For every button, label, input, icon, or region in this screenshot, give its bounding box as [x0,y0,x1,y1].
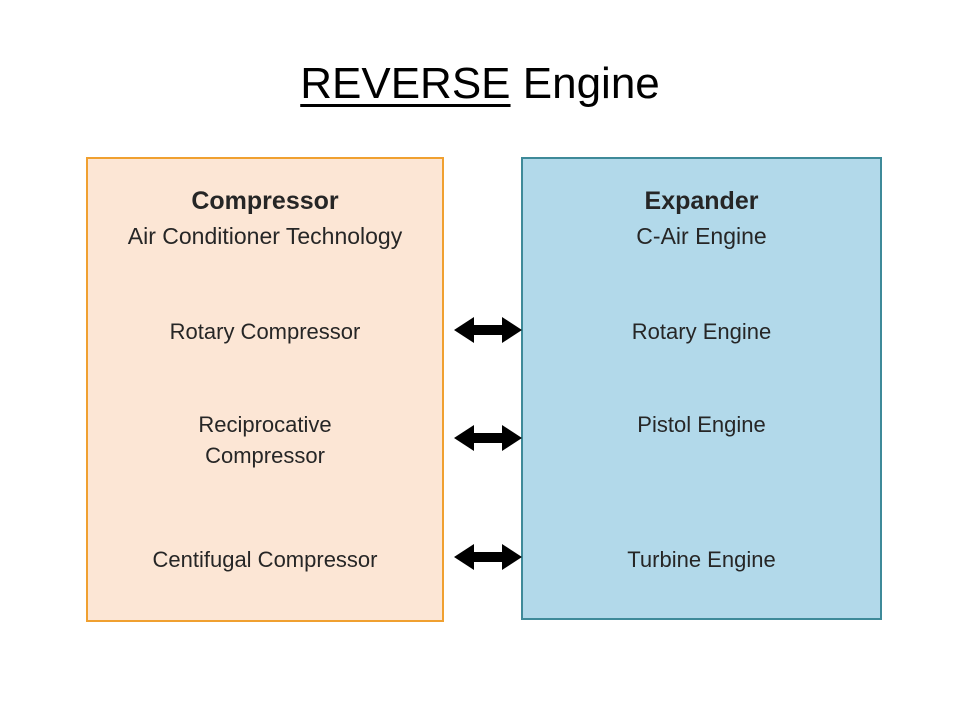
compressor-item-centifugal: Centifugal Compressor [88,544,442,575]
expander-item-pistol: Pistol Engine [523,409,880,440]
connector-reciprocative [452,421,524,455]
double-arrow-icon [452,421,524,455]
reverse-engine-diagram: REVERSE Engine Compressor Air Conditione… [0,0,960,720]
expander-panel: Expander C-Air Engine Rotary Engine Pist… [521,157,882,620]
compressor-heading: Compressor [88,185,442,217]
double-arrow-icon [452,313,524,347]
connector-rotary [452,313,524,347]
expander-heading: Expander [523,185,880,217]
compressor-item-rotary: Rotary Compressor [88,316,442,347]
compressor-panel: Compressor Air Conditioner Technology Ro… [86,157,444,622]
expander-item-rotary: Rotary Engine [523,316,880,347]
double-arrow-icon [452,540,524,574]
page-title: REVERSE Engine [0,56,960,112]
compressor-panel-header: Compressor Air Conditioner Technology [88,185,442,252]
expander-subheading: C-Air Engine [523,221,880,252]
page-title-rest: Engine [511,59,660,108]
compressor-item-reciprocative: Reciprocative Compressor [88,409,442,471]
expander-panel-header: Expander C-Air Engine [523,185,880,252]
page-title-emphasis: REVERSE [300,59,510,108]
compressor-subheading: Air Conditioner Technology [88,221,442,252]
expander-item-turbine: Turbine Engine [523,544,880,575]
connector-centifugal [452,540,524,574]
